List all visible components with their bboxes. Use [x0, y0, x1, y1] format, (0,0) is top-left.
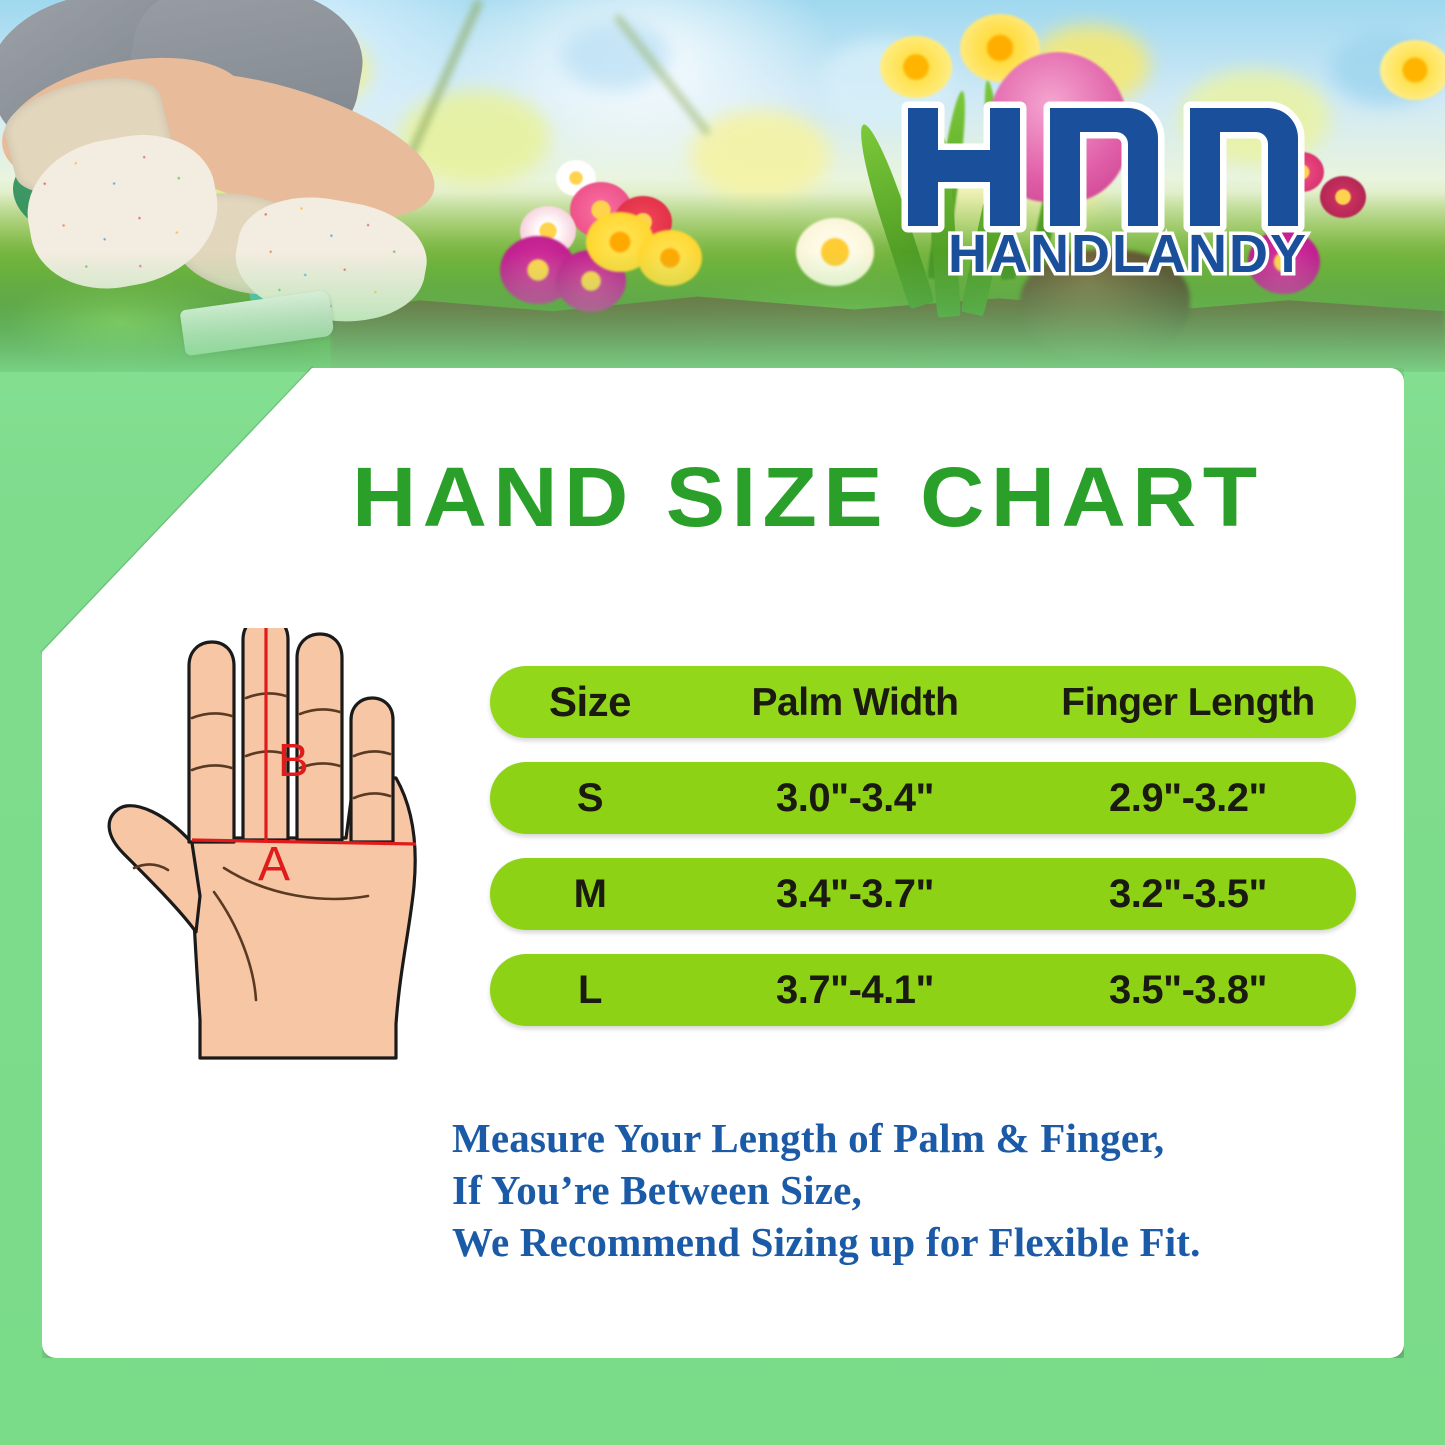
table-row: S 3.0"-3.4" 2.9"-3.2" [490, 762, 1356, 834]
size-value: S [577, 776, 603, 820]
size-value: L [578, 968, 602, 1012]
cell-palm-width: 3.0"-3.4" [690, 778, 1020, 818]
cell-palm-width: 3.7"-4.1" [690, 970, 1020, 1010]
finger-length-value: 3.2"-3.5" [1109, 872, 1267, 916]
palm-width-value: 3.0"-3.4" [776, 776, 934, 820]
finger-length-value: 2.9"-3.2" [1109, 776, 1267, 820]
cell-finger-length: 2.9"-3.2" [1020, 778, 1356, 818]
header-finger-length-label: Finger Length [1061, 681, 1314, 724]
cell-finger-length: 3.2"-3.5" [1020, 874, 1356, 914]
table-row: L 3.7"-4.1" 3.5"-3.8" [490, 954, 1356, 1026]
cell-finger-length: 3.5"-3.8" [1020, 970, 1356, 1010]
palm-width-label: A [258, 838, 290, 891]
finger-length-label: B [278, 734, 309, 786]
measurement-note: Measure Your Length of Palm & Finger, If… [452, 1112, 1372, 1268]
note-line-2: If You’re Between Size, [452, 1164, 1372, 1216]
header-cell-palm-width: Palm Width [690, 683, 1020, 722]
logo-wordmark-text: HANDLANDY [948, 224, 1308, 280]
table-header-row: Size Palm Width Finger Length [490, 666, 1356, 738]
brand-logo: HANDLANDY [900, 100, 1360, 280]
size-table: Size Palm Width Finger Length S 3.0"-3.4… [490, 666, 1356, 1050]
cell-size: L [490, 970, 690, 1010]
header-size-label: Size [549, 678, 631, 725]
daffodil [1380, 40, 1445, 100]
header-cell-finger-length: Finger Length [1020, 683, 1356, 722]
bokeh-blob [690, 110, 830, 200]
page-title-text: HAND SIZE CHART [352, 451, 1263, 544]
table-row: M 3.4"-3.7" 3.2"-3.5" [490, 858, 1356, 930]
daffodil [880, 36, 952, 98]
cell-size: S [490, 778, 690, 818]
bokeh-blob [560, 20, 670, 90]
hand-measurement-diagram: B A [96, 628, 488, 1080]
cell-size: M [490, 874, 690, 914]
size-chart-page: HANDLANDY HAND SIZE CHART [0, 0, 1445, 1445]
note-line-3: We Recommend Sizing up for Flexible Fit. [452, 1216, 1372, 1268]
page-title: HAND SIZE CHART [352, 448, 1352, 544]
note-line-1: Measure Your Length of Palm & Finger, [452, 1112, 1372, 1164]
palm-width-value: 3.4"-3.7" [776, 872, 934, 916]
cell-palm-width: 3.4"-3.7" [690, 874, 1020, 914]
finger-length-value: 3.5"-3.8" [1109, 968, 1267, 1012]
size-value: M [574, 872, 607, 916]
header-palm-width-label: Palm Width [752, 681, 959, 724]
palm-width-value: 3.7"-4.1" [776, 968, 934, 1012]
header-cell-size: Size [490, 681, 690, 723]
